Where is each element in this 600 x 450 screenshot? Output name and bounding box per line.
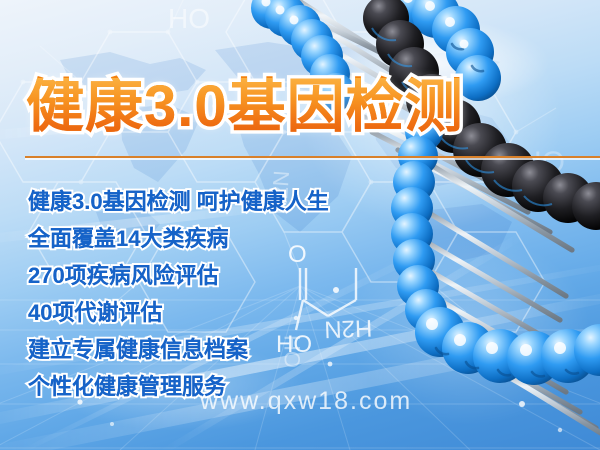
feature-text: 个性化健康管理服务 bbox=[28, 368, 226, 405]
formula-label-right-hydroxyl: HO bbox=[520, 146, 565, 179]
site-watermark: www.qxw18.com bbox=[200, 387, 412, 416]
feature-text: 建立专属健康信息档案 bbox=[28, 331, 248, 368]
feature-text: 全面覆盖14大类疾病 bbox=[28, 220, 228, 257]
feature-list-item: 健康3.0基因检测 呵护健康人生 健康3.0基因检测 呵护健康人生 bbox=[28, 183, 448, 220]
feature-list: 健康3.0基因检测 呵护健康人生 健康3.0基因检测 呵护健康人生 全面覆盖14… bbox=[28, 183, 448, 405]
feature-list-item: 全面覆盖14大类疾病 全面覆盖14大类疾病 bbox=[28, 220, 448, 257]
feature-list-item: 建立专属健康信息档案 建立专属健康信息档案 bbox=[28, 331, 448, 368]
feature-text: 270项疾病风险评估 bbox=[28, 257, 219, 294]
poster-headline: 健康3.0基因检测 bbox=[26, 78, 464, 136]
feature-text: 健康3.0基因检测 呵护健康人生 bbox=[28, 183, 329, 220]
formula-label-top-hydroxyl: HO bbox=[168, 3, 210, 34]
feature-list-item: 270项疾病风险评估 270项疾病风险评估 bbox=[28, 257, 448, 294]
headline-divider bbox=[25, 156, 600, 158]
feature-text: 40项代谢评估 bbox=[28, 294, 162, 331]
genetic-testing-poster: HO HO H2N O HO H2N OH bbox=[0, 0, 600, 450]
feature-list-item: 40项代谢评估 40项代谢评估 bbox=[28, 294, 448, 331]
